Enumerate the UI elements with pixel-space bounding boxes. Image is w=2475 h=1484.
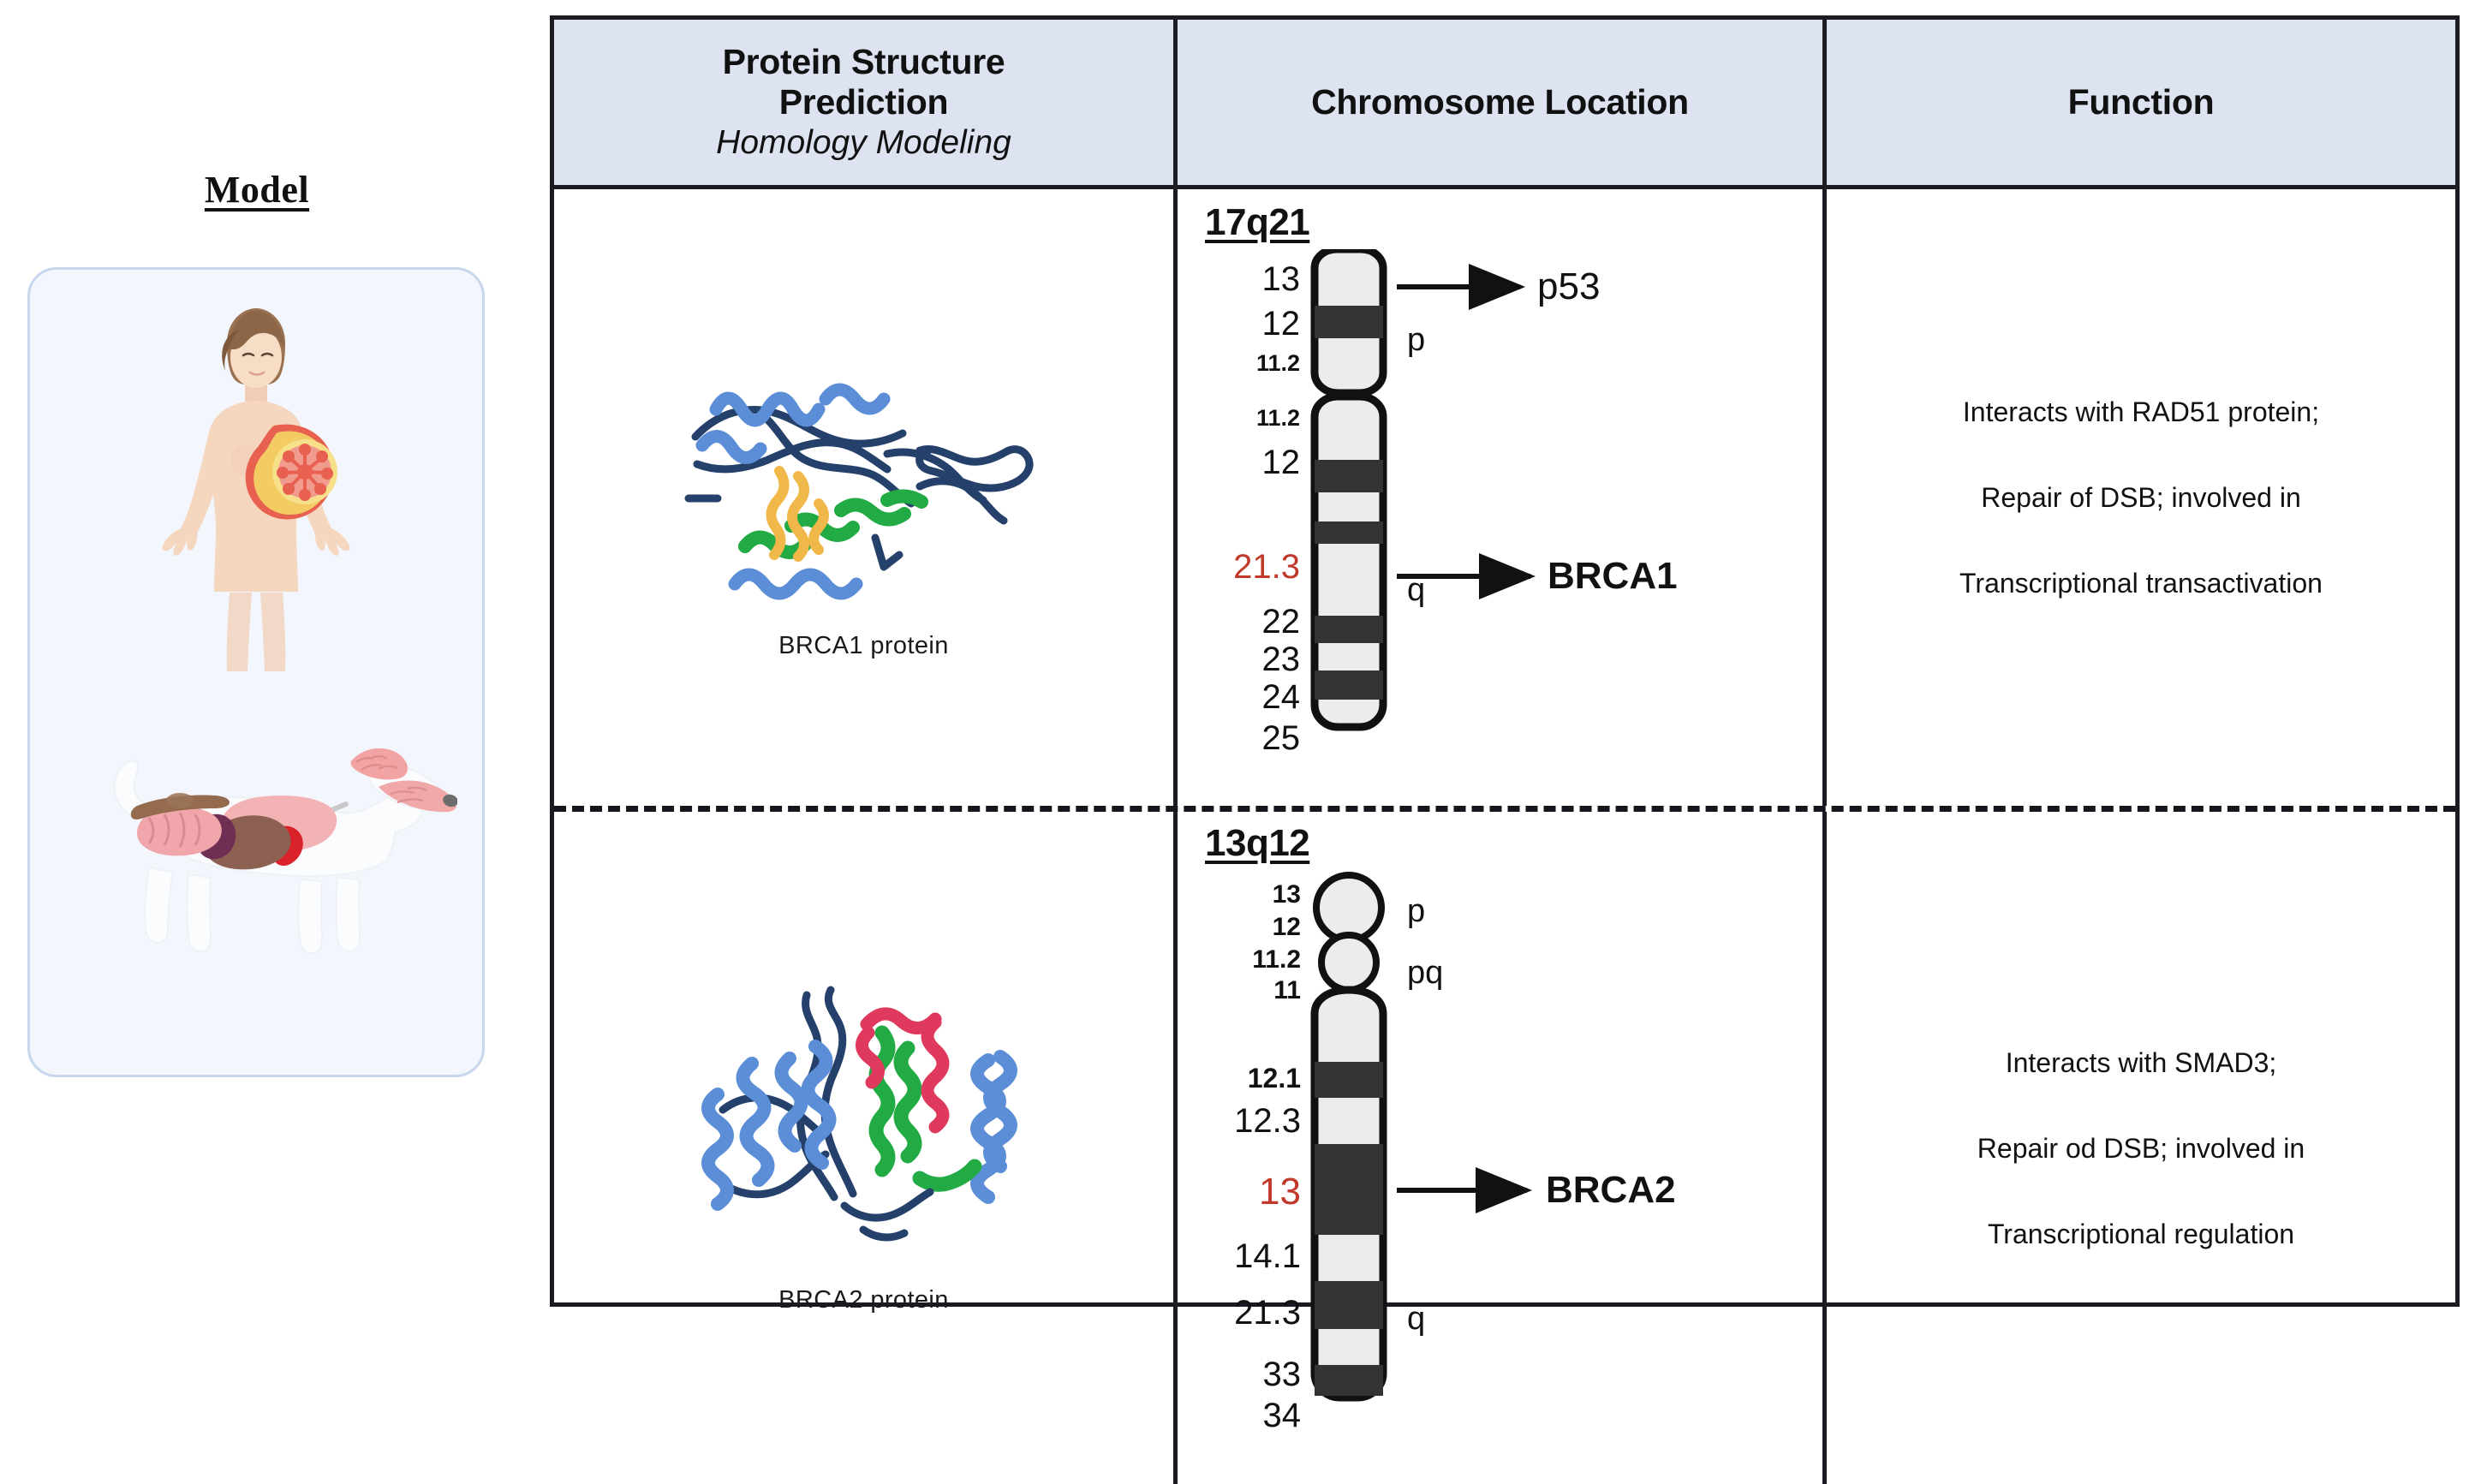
- svg-text:34: 34: [1263, 1397, 1302, 1434]
- cell-function-brca2: Interacts with SMAD3; Repair od DSB; inv…: [1827, 812, 2455, 1484]
- svg-text:21.3: 21.3: [1233, 548, 1300, 586]
- model-panel: Model: [0, 0, 548, 1332]
- table-row: BRCA1 protein 17q21: [554, 189, 2455, 806]
- function-line: Transcriptional transactivation: [1868, 566, 2414, 600]
- function-line: Interacts with SMAD3;: [1868, 1046, 2414, 1080]
- row-separator-dashed: [554, 806, 2455, 812]
- header-protein-line1: Protein Structure: [723, 42, 1005, 81]
- protein-caption-brca1: BRCA1 protein: [778, 632, 949, 660]
- svg-text:14.1: 14.1: [1234, 1237, 1301, 1275]
- svg-text:pq: pq: [1407, 955, 1443, 991]
- cell-chromosome-brca1: 17q21: [1178, 189, 1827, 806]
- svg-text:12.1: 12.1: [1248, 1063, 1301, 1094]
- svg-text:13: 13: [1259, 1171, 1301, 1213]
- svg-text:12: 12: [1262, 444, 1301, 481]
- svg-text:21.3: 21.3: [1234, 1294, 1301, 1332]
- svg-text:22: 22: [1262, 603, 1301, 641]
- svg-text:33: 33: [1263, 1356, 1302, 1393]
- function-line: Transcriptional regulation: [1868, 1217, 2414, 1251]
- svg-text:11.2: 11.2: [1252, 945, 1301, 974]
- header-protein-line2: Prediction: [779, 82, 948, 122]
- model-card: [27, 267, 485, 1077]
- cell-protein-brca2: BRCA2 protein: [554, 812, 1178, 1484]
- page-title: Model: [0, 168, 514, 212]
- svg-text:13: 13: [1273, 880, 1301, 909]
- header-function-label: Function: [2068, 82, 2215, 122]
- svg-text:BRCA2: BRCA2: [1546, 1169, 1676, 1211]
- column-header-function: Function: [1827, 20, 2455, 185]
- svg-text:p53: p53: [1537, 265, 1600, 307]
- svg-text:p: p: [1407, 893, 1425, 929]
- chromosome-13-ideogram-icon: 13 12 11.2 11 12.1 12.3 13 14.1 21.3 33 …: [1178, 872, 1811, 1437]
- column-header-chromosome-location: Chromosome Location: [1178, 20, 1827, 185]
- locus-label-13q12: 13q12: [1205, 822, 1309, 865]
- comparison-table: Protein Structure Prediction Homology Mo…: [550, 15, 2460, 1307]
- cell-protein-brca1: BRCA1 protein: [554, 189, 1178, 806]
- brca1-protein-ribbon-icon: [663, 336, 1065, 610]
- svg-text:11.2: 11.2: [1256, 350, 1300, 376]
- table-row: BRCA2 protein 13q12: [554, 812, 2455, 1484]
- svg-text:12: 12: [1262, 305, 1301, 343]
- svg-text:BRCA1: BRCA1: [1548, 555, 1678, 597]
- protein-caption-brca2: BRCA2 protein: [778, 1286, 949, 1314]
- svg-text:12.3: 12.3: [1234, 1102, 1301, 1140]
- column-header-protein-structure: Protein Structure Prediction Homology Mo…: [554, 20, 1178, 185]
- function-line: Repair od DSB; involved in: [1868, 1131, 2414, 1165]
- svg-text:11: 11: [1273, 976, 1301, 1004]
- brca2-protein-ribbon-icon: [663, 981, 1065, 1264]
- svg-text:11.2: 11.2: [1256, 405, 1300, 431]
- svg-text:13: 13: [1262, 260, 1301, 298]
- svg-text:25: 25: [1262, 719, 1301, 757]
- table-header-row: Protein Structure Prediction Homology Mo…: [554, 20, 2455, 189]
- header-chromosome-label: Chromosome Location: [1311, 82, 1689, 122]
- svg-text:23: 23: [1262, 641, 1301, 678]
- dog-figure-icon: [55, 715, 457, 998]
- dog-illustration: [30, 715, 482, 1058]
- chromosome-17-ideogram-icon: 13 12 11.2 11.2 12 21.3 22 23 24 25 p q: [1178, 249, 1811, 763]
- svg-text:24: 24: [1262, 678, 1301, 716]
- human-figure-icon: [115, 295, 397, 698]
- cell-chromosome-brca2: 13q12: [1178, 812, 1827, 1484]
- svg-text:p: p: [1407, 322, 1425, 358]
- function-line: Interacts with RAD51 protein;: [1868, 395, 2414, 429]
- svg-text:12: 12: [1273, 913, 1301, 941]
- cell-function-brca1: Interacts with RAD51 protein; Repair of …: [1827, 189, 2455, 806]
- human-female-illustration: [30, 295, 482, 698]
- header-protein-subtitle: Homology Modeling: [716, 124, 1011, 161]
- locus-label-17q21: 17q21: [1205, 201, 1309, 244]
- function-line: Repair of DSB; involved in: [1868, 480, 2414, 515]
- svg-text:q: q: [1407, 1301, 1425, 1337]
